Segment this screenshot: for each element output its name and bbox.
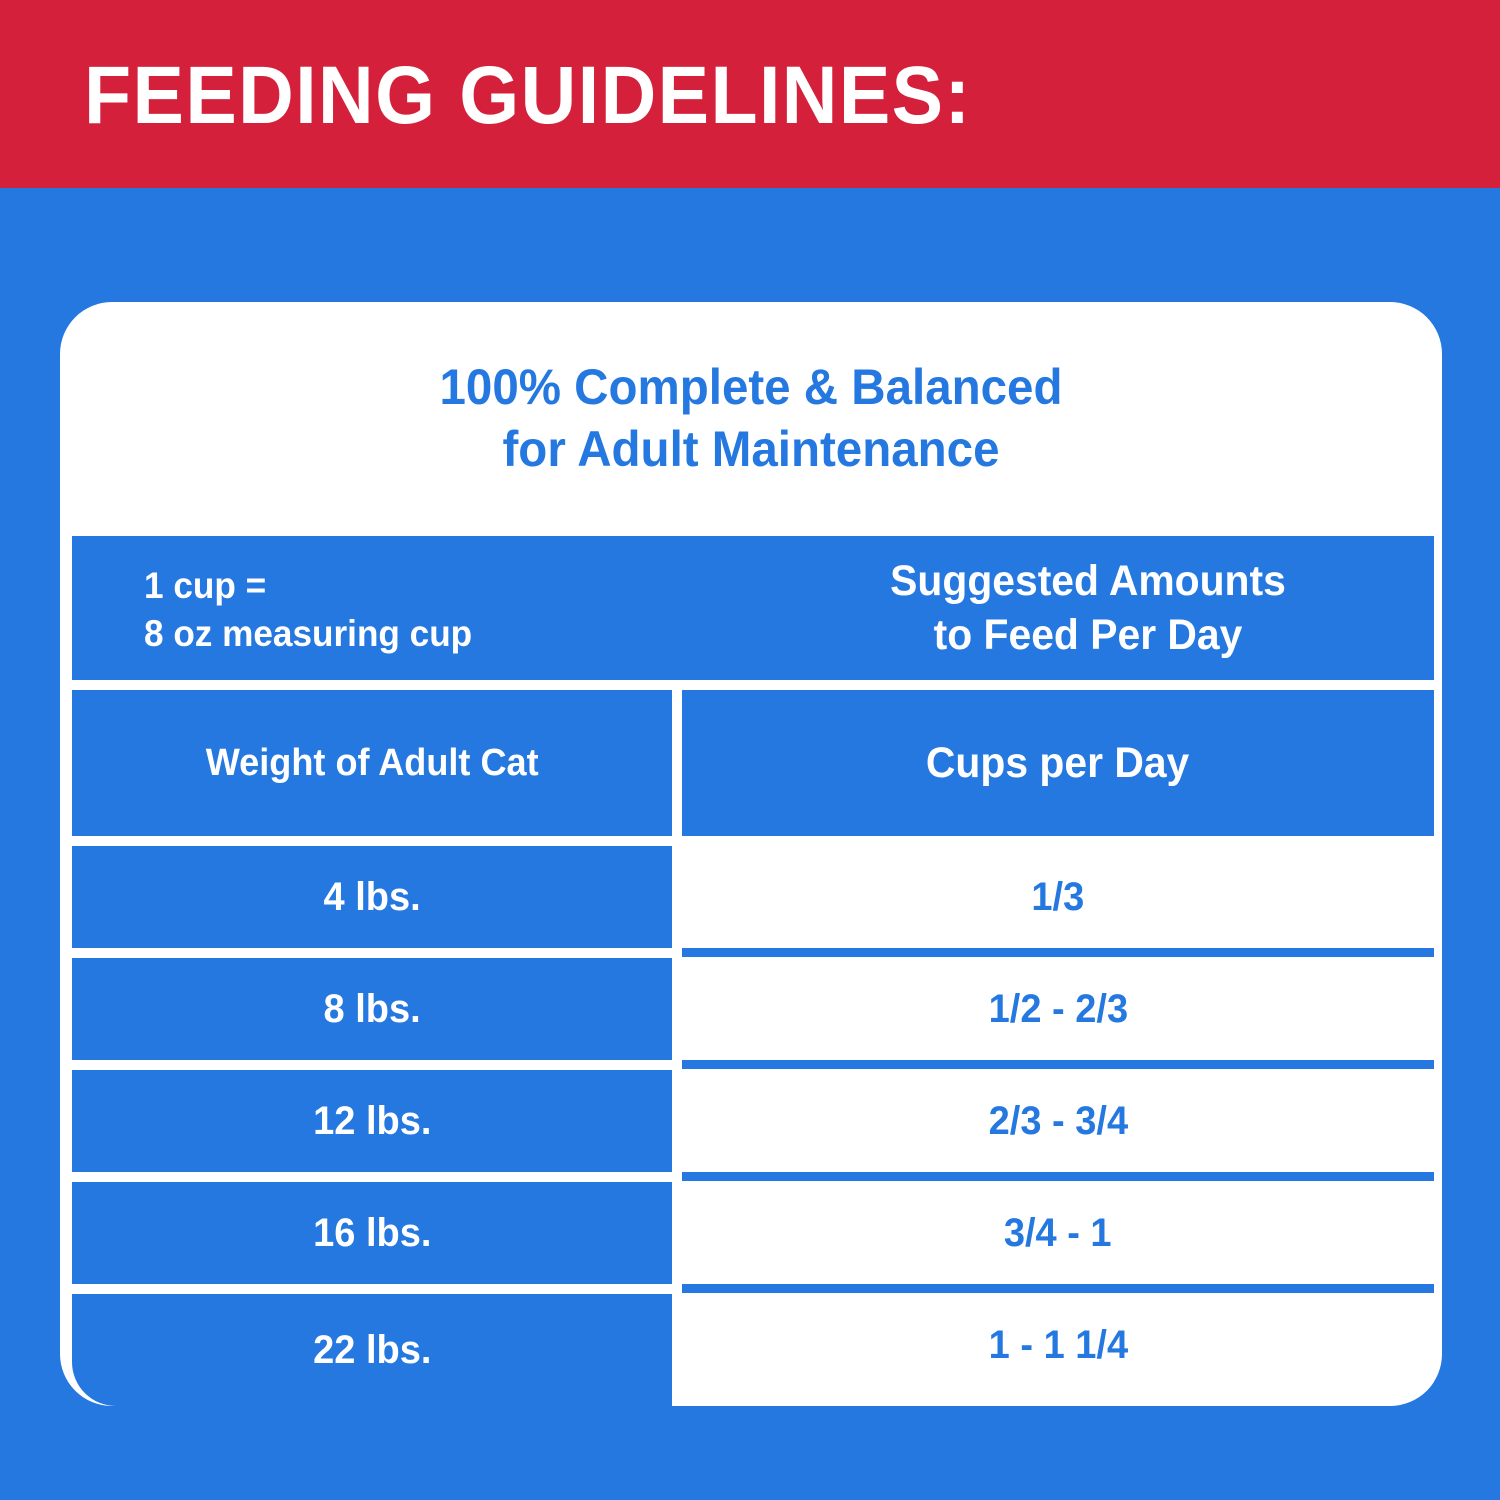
suggested-amounts-line-1: Suggested Amounts <box>759 554 1416 608</box>
measuring-cup-note: 1 cup = 8 oz measuring cup <box>144 562 472 658</box>
row-divider <box>682 1060 1434 1069</box>
weight-value: 12 lbs. <box>313 1099 431 1144</box>
suggested-amounts-line-2: to Feed Per Day <box>759 608 1416 662</box>
cups-cell: 3/4 - 1 <box>682 1182 1434 1284</box>
column-header-weight: Weight of Adult Cat <box>72 690 672 836</box>
column-header-cups-label: Cups per Day <box>926 739 1189 788</box>
row-divider <box>682 948 1434 957</box>
table-band-intro: 1 cup = 8 oz measuring cup Suggested Amo… <box>72 536 1434 680</box>
cups-cell: 2/3 - 3/4 <box>682 1070 1434 1172</box>
row-divider <box>682 1172 1434 1181</box>
cups-value: 1/3 <box>1032 875 1085 920</box>
feeding-table: 1 cup = 8 oz measuring cup Suggested Amo… <box>72 536 1434 1406</box>
table-body: 4 lbs. 1/3 8 lbs. 1/2 - 2/3 <box>72 846 1434 1406</box>
card-heading-line-2: for Adult Maintenance <box>95 418 1408 480</box>
weight-cell: 4 lbs. <box>72 846 672 948</box>
cups-cell: 1 - 1 1/4 <box>682 1294 1434 1396</box>
measuring-cup-note-line-1: 1 cup = <box>144 562 472 610</box>
weight-cell: 12 lbs. <box>72 1070 672 1172</box>
feeding-guidelines-page: FEEDING GUIDELINES: 100% Complete & Bala… <box>0 0 1500 1500</box>
cups-value: 2/3 - 3/4 <box>988 1099 1127 1144</box>
cups-value: 1 - 1 1/4 <box>988 1323 1127 1368</box>
measuring-cup-note-line-2: 8 oz measuring cup <box>144 610 472 658</box>
table-row: 22 lbs. 1 - 1 1/4 <box>72 1294 1434 1406</box>
suggested-amounts-heading: Suggested Amounts to Feed Per Day <box>759 554 1416 662</box>
weight-cell: 22 lbs. <box>72 1294 672 1406</box>
table-row: 8 lbs. 1/2 - 2/3 <box>72 958 1434 1070</box>
table-row: 12 lbs. 2/3 - 3/4 <box>72 1070 1434 1182</box>
table-column-headers: Weight of Adult Cat Cups per Day <box>72 690 1434 836</box>
card-heading-line-1: 100% Complete & Balanced <box>95 356 1408 418</box>
weight-cell: 8 lbs. <box>72 958 672 1060</box>
table-row: 16 lbs. 3/4 - 1 <box>72 1182 1434 1294</box>
column-header-cups: Cups per Day <box>682 690 1434 836</box>
cups-value: 1/2 - 2/3 <box>988 987 1127 1032</box>
weight-value: 22 lbs. <box>313 1328 431 1373</box>
cups-cell: 1/2 - 2/3 <box>682 958 1434 1060</box>
page-title: FEEDING GUIDELINES: <box>84 50 972 142</box>
weight-value: 4 lbs. <box>323 875 420 920</box>
column-header-weight-label: Weight of Adult Cat <box>206 742 539 785</box>
weight-value: 16 lbs. <box>313 1211 431 1256</box>
feeding-table-card: 100% Complete & Balanced for Adult Maint… <box>60 302 1442 1406</box>
card-heading: 100% Complete & Balanced for Adult Maint… <box>95 356 1408 480</box>
weight-cell: 16 lbs. <box>72 1182 672 1284</box>
cups-cell: 1/3 <box>682 846 1434 948</box>
row-divider <box>682 1284 1434 1293</box>
page-banner: FEEDING GUIDELINES: <box>0 0 1500 188</box>
table-row: 4 lbs. 1/3 <box>72 846 1434 958</box>
weight-value: 8 lbs. <box>323 987 420 1032</box>
cups-value: 3/4 - 1 <box>1004 1211 1112 1256</box>
